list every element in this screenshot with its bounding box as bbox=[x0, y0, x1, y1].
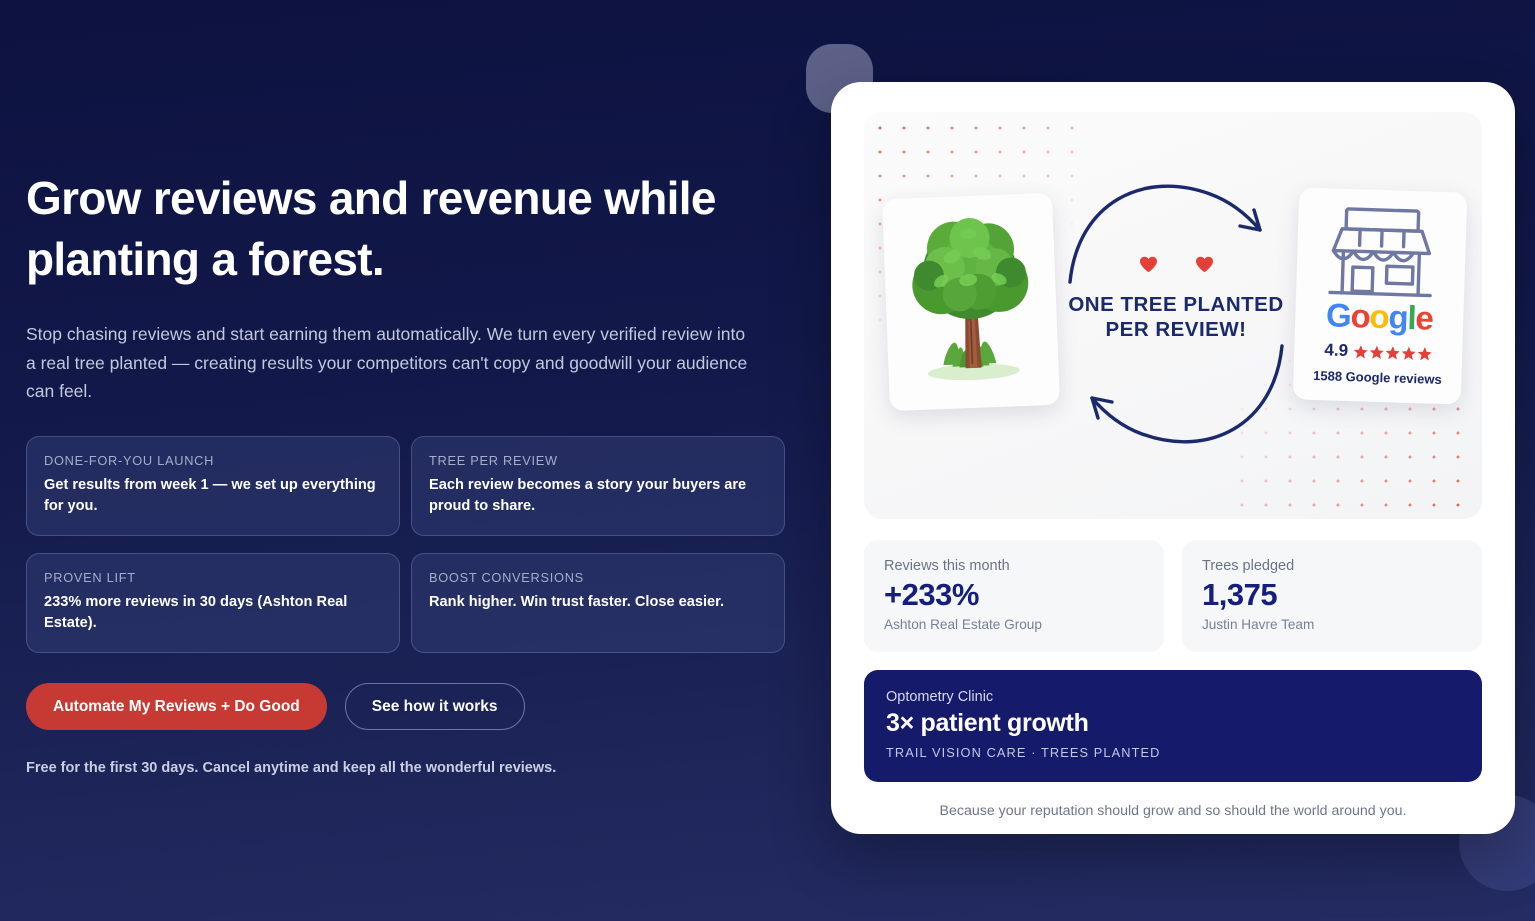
google-review-count: 1588 Google reviews bbox=[1293, 367, 1461, 387]
illustration-stage: ONE TREE PLANTED PER REVIEW! Google bbox=[864, 112, 1482, 519]
highlight-kicker: Optometry Clinic bbox=[886, 689, 1460, 705]
feature-kicker: PROVEN LIFT bbox=[44, 570, 382, 585]
rating-value: 4.9 bbox=[1324, 340, 1348, 361]
feature-text: Rank higher. Win trust faster. Close eas… bbox=[429, 592, 767, 613]
stat-card-reviews-this-month: Reviews this month +233% Ashton Real Est… bbox=[864, 540, 1164, 652]
feature-text: 233% more reviews in 30 days (Ashton Rea… bbox=[44, 592, 382, 634]
stat-label: Trees pledged bbox=[1202, 558, 1462, 574]
showcase-panel: ONE TREE PLANTED PER REVIEW! Google bbox=[831, 82, 1515, 834]
tree-card bbox=[882, 193, 1060, 411]
panel-footer-note: Because your reputation should grow and … bbox=[864, 803, 1482, 819]
automate-my-reviews-button[interactable]: Automate My Reviews + Do Good bbox=[26, 683, 327, 730]
stat-value: +233% bbox=[884, 577, 1144, 614]
google-logo-letter: e bbox=[1415, 299, 1433, 337]
star-rating bbox=[1353, 344, 1432, 361]
google-review-card: Google 4.9 1588 Google reviews bbox=[1293, 187, 1468, 404]
feature-card-tree-per-review: TREE PER REVIEW Each review becomes a st… bbox=[411, 436, 785, 536]
heart-icon bbox=[1139, 256, 1158, 273]
google-logo: Google bbox=[1295, 297, 1464, 335]
feature-kicker: TREE PER REVIEW bbox=[429, 453, 767, 468]
storefront-icon bbox=[1296, 199, 1467, 304]
cta-row: Automate My Reviews + Do Good See how it… bbox=[26, 683, 786, 730]
google-logo-letter: g bbox=[1388, 298, 1408, 336]
star-icon bbox=[1417, 346, 1432, 361]
highlight-title: 3× patient growth bbox=[886, 709, 1460, 738]
feature-text: Each review becomes a story your buyers … bbox=[429, 475, 767, 517]
stat-label: Reviews this month bbox=[884, 558, 1144, 574]
stat-sub: Ashton Real Estate Group bbox=[884, 617, 1144, 632]
hearts-row bbox=[1060, 256, 1292, 273]
highlight-case-study-card: Optometry Clinic 3× patient growth TRAIL… bbox=[864, 670, 1482, 782]
stat-card-trees-pledged: Trees pledged 1,375 Justin Havre Team bbox=[1182, 540, 1482, 652]
review-cycle-graphic: ONE TREE PLANTED PER REVIEW! bbox=[1060, 164, 1292, 464]
feature-grid: DONE-FOR-YOU LAUNCH Get results from wee… bbox=[26, 436, 786, 653]
star-icon bbox=[1401, 345, 1416, 360]
stat-sub: Justin Havre Team bbox=[1202, 617, 1462, 632]
heart-icon bbox=[1195, 256, 1214, 273]
feature-text: Get results from week 1 — we set up ever… bbox=[44, 475, 382, 517]
google-logo-letter: o bbox=[1369, 298, 1389, 336]
rating-row: 4.9 bbox=[1294, 339, 1463, 364]
page-title: Grow reviews and revenue while planting … bbox=[26, 168, 766, 290]
star-icon bbox=[1385, 345, 1400, 360]
highlight-meta: TRAIL VISION CARE · TREES PLANTED bbox=[886, 745, 1460, 760]
see-how-it-works-button[interactable]: See how it works bbox=[345, 683, 525, 730]
stat-value: 1,375 bbox=[1202, 577, 1462, 614]
feature-kicker: DONE-FOR-YOU LAUNCH bbox=[44, 453, 382, 468]
feature-kicker: BOOST CONVERSIONS bbox=[429, 570, 767, 585]
google-logo-letter: G bbox=[1326, 296, 1352, 334]
feature-card-proven-lift: PROVEN LIFT 233% more reviews in 30 days… bbox=[26, 553, 400, 653]
trial-fineprint: Free for the first 30 days. Cancel anyti… bbox=[26, 760, 786, 776]
star-icon bbox=[1369, 344, 1384, 359]
google-logo-letter: o bbox=[1350, 297, 1370, 335]
stat-cards: Reviews this month +233% Ashton Real Est… bbox=[864, 540, 1482, 652]
hero-left-column: Grow reviews and revenue while planting … bbox=[26, 0, 786, 921]
tree-illustration-icon bbox=[882, 193, 1060, 411]
cycle-tagline: ONE TREE PLANTED PER REVIEW! bbox=[1060, 292, 1292, 342]
hero-subcopy: Stop chasing reviews and start earning t… bbox=[26, 320, 748, 405]
feature-card-done-for-you-launch: DONE-FOR-YOU LAUNCH Get results from wee… bbox=[26, 436, 400, 536]
star-icon bbox=[1353, 344, 1368, 359]
feature-card-boost-conversions: BOOST CONVERSIONS Rank higher. Win trust… bbox=[411, 553, 785, 653]
